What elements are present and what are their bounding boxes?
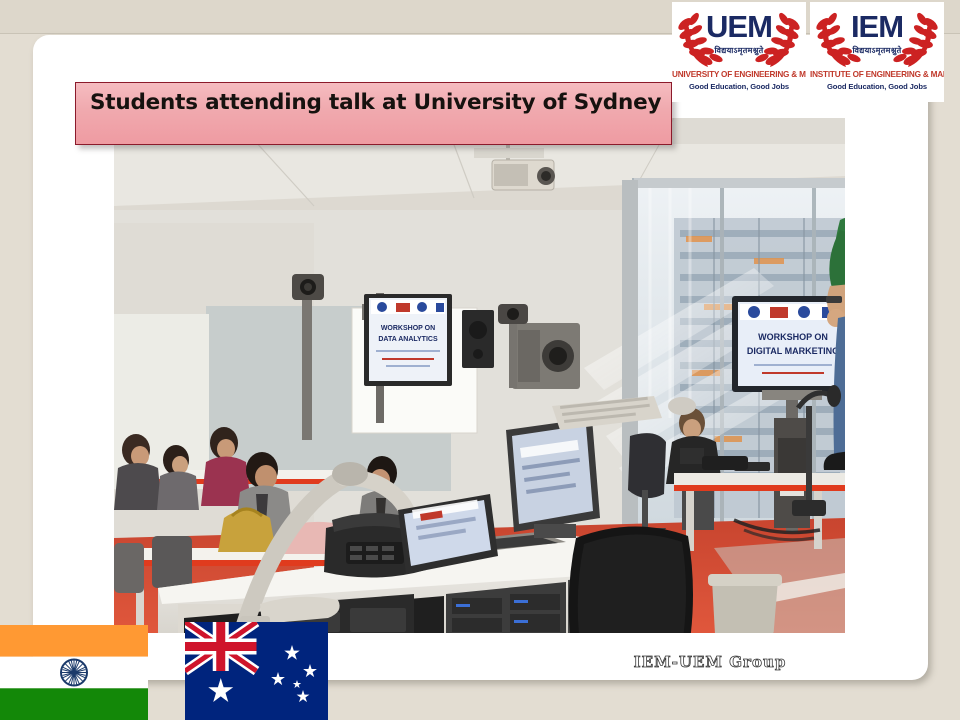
uem-logo: UEM विद्ययाऽमृतमश्नुते UNIVERSITY OF ENG… (672, 2, 806, 102)
uem-full-name: UNIVERSITY OF ENGINEERING & MANAGEMENT (672, 70, 806, 79)
iem-logo: IEM विद्ययाऽमृतमश्नुते INSTITUTE OF ENGI… (810, 2, 944, 102)
slide-canvas: WORKSHOP ON DATA ANALYTICS (0, 0, 960, 720)
institution-logos: UEM विद्ययाऽमृतमश्नुते UNIVERSITY OF ENG… (672, 2, 944, 102)
iem-sanskrit-motto: विद्ययाऽमृतमश्नुते (810, 45, 944, 56)
footer-group-label: IEM-UEM Group (560, 653, 860, 671)
svg-text:WORKSHOP ON: WORKSHOP ON (758, 332, 828, 342)
svg-text:DATA ANALYTICS: DATA ANALYTICS (378, 336, 438, 343)
australia-flag (185, 622, 328, 720)
iem-tagline: Good Education, Good Jobs (810, 82, 944, 91)
svg-text:DIGITAL MARKETING: DIGITAL MARKETING (747, 346, 839, 356)
iem-full-name: INSTITUTE OF ENGINEERING & MANAGEMENT (810, 70, 944, 79)
classroom-photo: WORKSHOP ON DATA ANALYTICS (114, 118, 845, 633)
union-jack-icon (185, 622, 257, 671)
iem-acronym: IEM (810, 10, 944, 44)
uem-sanskrit-motto: विद्ययाऽमृतमश्नुते (672, 45, 806, 56)
uem-tagline: Good Education, Good Jobs (672, 82, 806, 91)
ashoka-chakra-icon (61, 660, 87, 686)
page-title: Students attending talk at University of… (90, 90, 671, 116)
slide-title-box: Students attending talk at University of… (75, 82, 672, 145)
uem-acronym: UEM (672, 10, 806, 44)
svg-text:WORKSHOP ON: WORKSHOP ON (381, 325, 435, 332)
india-flag (0, 625, 148, 720)
